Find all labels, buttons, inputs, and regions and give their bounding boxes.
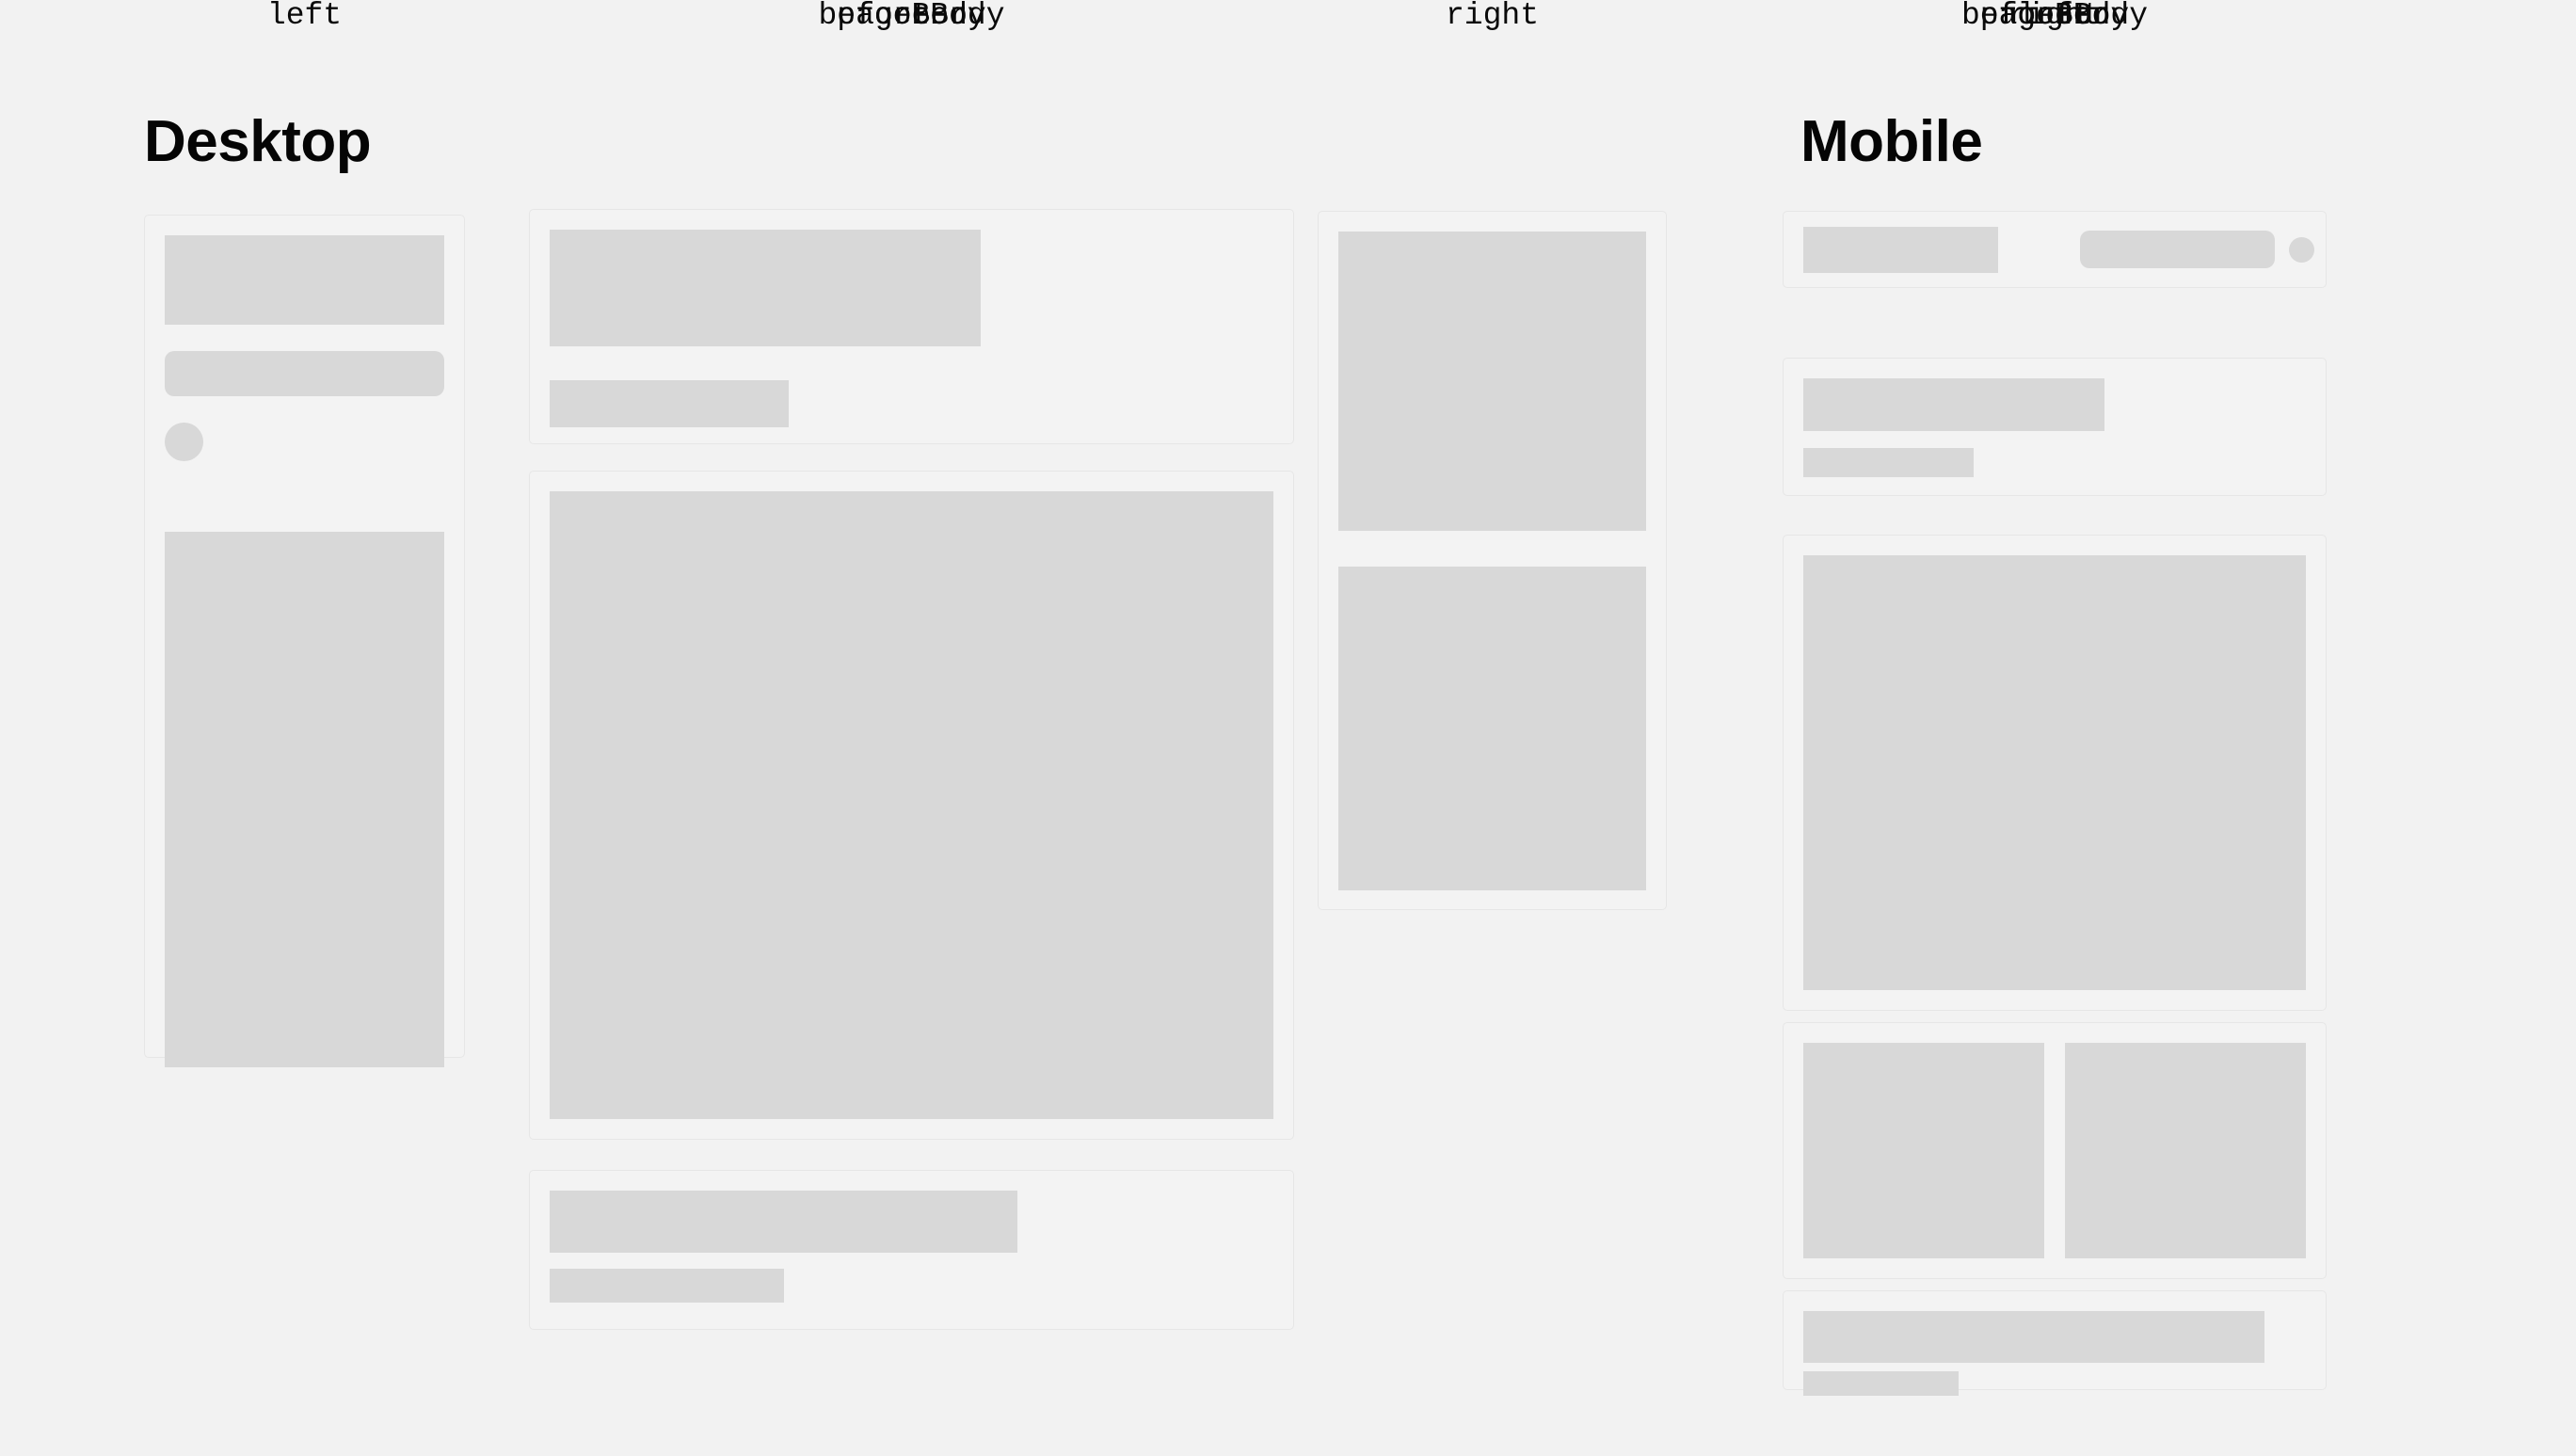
mobile-slot-pagebody [1783, 535, 2327, 1011]
desktop-slot-right-label: right [1318, 0, 1667, 31]
skeleton-block [165, 532, 444, 1067]
skeleton-block-rounded [165, 351, 444, 396]
desktop-slot-beforebody-label: beforeBody [529, 0, 1294, 31]
skeleton-block [1803, 1371, 1959, 1396]
desktop-slot-left-label: left [144, 0, 465, 31]
mobile-slot-footer [1783, 1290, 2327, 1390]
skeleton-avatar-circle [165, 423, 203, 461]
mobile-slot-left-label: left [1783, 0, 2327, 31]
desktop-slot-pagebody [529, 471, 1294, 1140]
desktop-slot-right [1318, 211, 1667, 910]
skeleton-block-rounded [2080, 231, 2275, 268]
skeleton-block [550, 1191, 1017, 1253]
skeleton-block [1803, 227, 1998, 273]
desktop-slot-beforebody [529, 209, 1294, 444]
skeleton-block [1803, 1311, 2264, 1363]
desktop-slot-pagebody-label: pageBody [529, 0, 1294, 31]
desktop-section-title: Desktop [144, 113, 371, 171]
desktop-slot-footer [529, 1170, 1294, 1330]
mobile-slot-left [1783, 211, 2327, 288]
skeleton-block [550, 491, 1273, 1119]
skeleton-block [550, 1269, 784, 1303]
skeleton-block [1338, 232, 1646, 531]
mobile-slot-pagebody-label: pageBody [1783, 0, 2327, 31]
skeleton-block [550, 380, 789, 427]
skeleton-block [2065, 1043, 2306, 1258]
mobile-slot-footer-label: footer [1783, 0, 2327, 31]
desktop-slot-footer-label: footer [529, 0, 1294, 31]
skeleton-block [1803, 555, 2306, 990]
skeleton-avatar-circle [2289, 237, 2314, 263]
skeleton-block [1803, 378, 2104, 431]
mobile-slot-right-label: right [1783, 0, 2327, 31]
desktop-slot-left [144, 215, 465, 1058]
skeleton-block [1338, 567, 1646, 890]
skeleton-block [1803, 448, 1974, 477]
skeleton-block [165, 235, 444, 325]
mobile-slot-right [1783, 1022, 2327, 1279]
mobile-slot-beforebody [1783, 358, 2327, 496]
mobile-slot-beforebody-label: beforeBody [1783, 0, 2327, 31]
skeleton-block [1803, 1043, 2044, 1258]
mobile-section-title: Mobile [1800, 113, 1982, 171]
skeleton-block [550, 230, 981, 346]
